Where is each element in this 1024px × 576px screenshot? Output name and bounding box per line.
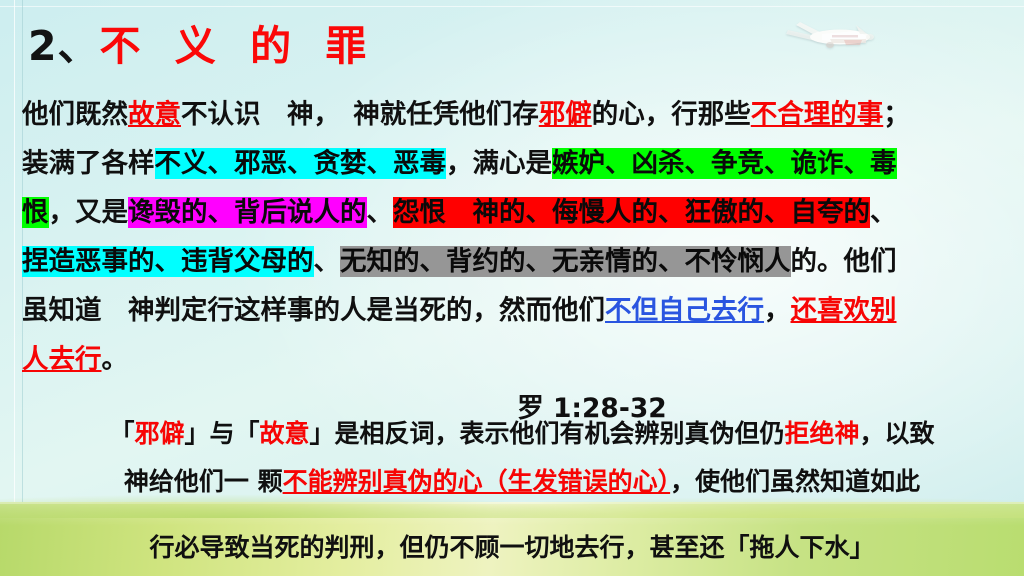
top-edge-line — [0, 6, 1024, 7]
scripture-line-6: 人去行。 — [22, 335, 1012, 384]
page-title: 2、不 义 的 罪 — [28, 12, 376, 72]
text-run-highlight-cyan: 不义、邪恶、贪婪、恶毒 — [155, 148, 447, 179]
text-run-plain: 「 — [109, 419, 134, 448]
text-run-red: 故意 — [259, 419, 309, 448]
text-run-plain: 不认识 神， 神就任凭他们存 — [181, 99, 539, 130]
explanation-line-1: 「邪僻」与「故意」是相反词，表示他们有机会辨别真伪但仍拒绝神，以致 — [22, 410, 1022, 458]
text-run-plain: 他们既然 — [22, 99, 128, 130]
text-run-red-underline: 邪僻 — [539, 99, 592, 130]
scripture-line-2: 装满了各样不义、邪恶、贪婪、恶毒，满心是嫉妒、凶杀、争竞、诡诈、毒 — [22, 139, 1012, 188]
text-run-red-underline: 人去行 — [22, 344, 102, 375]
text-run-plain: ，又是 — [49, 197, 129, 228]
footer-text: 行必导致当死的判刑，但仍不顾一切地去行，甚至还「拖人下水」 — [0, 528, 1024, 564]
text-run-highlight-cyan: 捏造恶事的、违背父母的 — [22, 246, 314, 277]
text-run-highlight-gray: 无知的、背约的、无亲情的、不怜悯人 — [340, 246, 791, 277]
text-run-highlight-red: 怨恨 神的、侮慢人的、狂傲的、自夸的 — [393, 197, 870, 228]
scripture-block: 他们既然故意不认识 神， 神就任凭他们存邪僻的心，行那些不合理的事； 装满了各样… — [22, 90, 1012, 433]
text-run-plain: 、 — [870, 197, 897, 228]
text-run-plain: 装满了各样 — [22, 148, 155, 179]
text-run-plain: 」与「 — [184, 419, 259, 448]
text-run-red: 邪僻 — [134, 419, 184, 448]
text-run-plain: 的。他们 — [791, 246, 897, 277]
text-run-red-underline: 还喜欢别 — [791, 295, 897, 326]
scripture-line-1: 他们既然故意不认识 神， 神就任凭他们存邪僻的心，行那些不合理的事； — [22, 90, 1012, 139]
text-run-highlight-green: 嫉妒、凶杀、争竞、诡诈、毒 — [552, 148, 897, 179]
text-run-highlight-magenta: 谗毁的、背后说人的 — [128, 197, 367, 228]
text-run-plain: 、 — [367, 197, 394, 228]
text-run-plain: 。 — [102, 344, 129, 375]
slide-canvas: 2、不 义 的 罪 他们既然故意不认识 神， 神就任凭他们存邪僻的心，行那些不合… — [0, 0, 1024, 576]
scripture-line-3: 恨，又是谗毁的、背后说人的、怨恨 神的、侮慢人的、狂傲的、自夸的、 — [22, 188, 1012, 237]
text-run-plain: 、 — [314, 246, 341, 277]
text-run-plain: 虽知道 神判定行这样事的人是当死的，然而他们 — [22, 295, 605, 326]
text-run-red: 拒绝神 — [785, 419, 860, 448]
scripture-line-5: 虽知道 神判定行这样事的人是当死的，然而他们不但自己去行，还喜欢别 — [22, 286, 1012, 335]
title-text: 不 义 的 罪 — [100, 22, 377, 70]
scripture-line-4: 捏造恶事的、违背父母的、无知的、背约的、无亲情的、不怜悯人的。他们 — [22, 237, 1012, 286]
text-run-plain: ，满心是 — [446, 148, 552, 179]
text-run-plain: ，以致 — [860, 419, 935, 448]
text-run-blue-underline: 不但自己去行 — [605, 295, 764, 326]
text-run-red-underline: 故意 — [128, 99, 181, 130]
text-run-plain: ， — [764, 295, 791, 326]
text-run-highlight-green: 恨 — [22, 197, 49, 228]
text-run-plain: ； — [883, 99, 910, 130]
text-run-plain: 的心，行那些 — [592, 99, 751, 130]
text-run-plain: 」是相反词，表示他们有机会辨别真伪但仍 — [310, 419, 785, 448]
airplane-icon — [770, 12, 890, 58]
title-number: 2、 — [28, 22, 100, 70]
text-run-red-underline: 不合理的事 — [751, 99, 884, 130]
